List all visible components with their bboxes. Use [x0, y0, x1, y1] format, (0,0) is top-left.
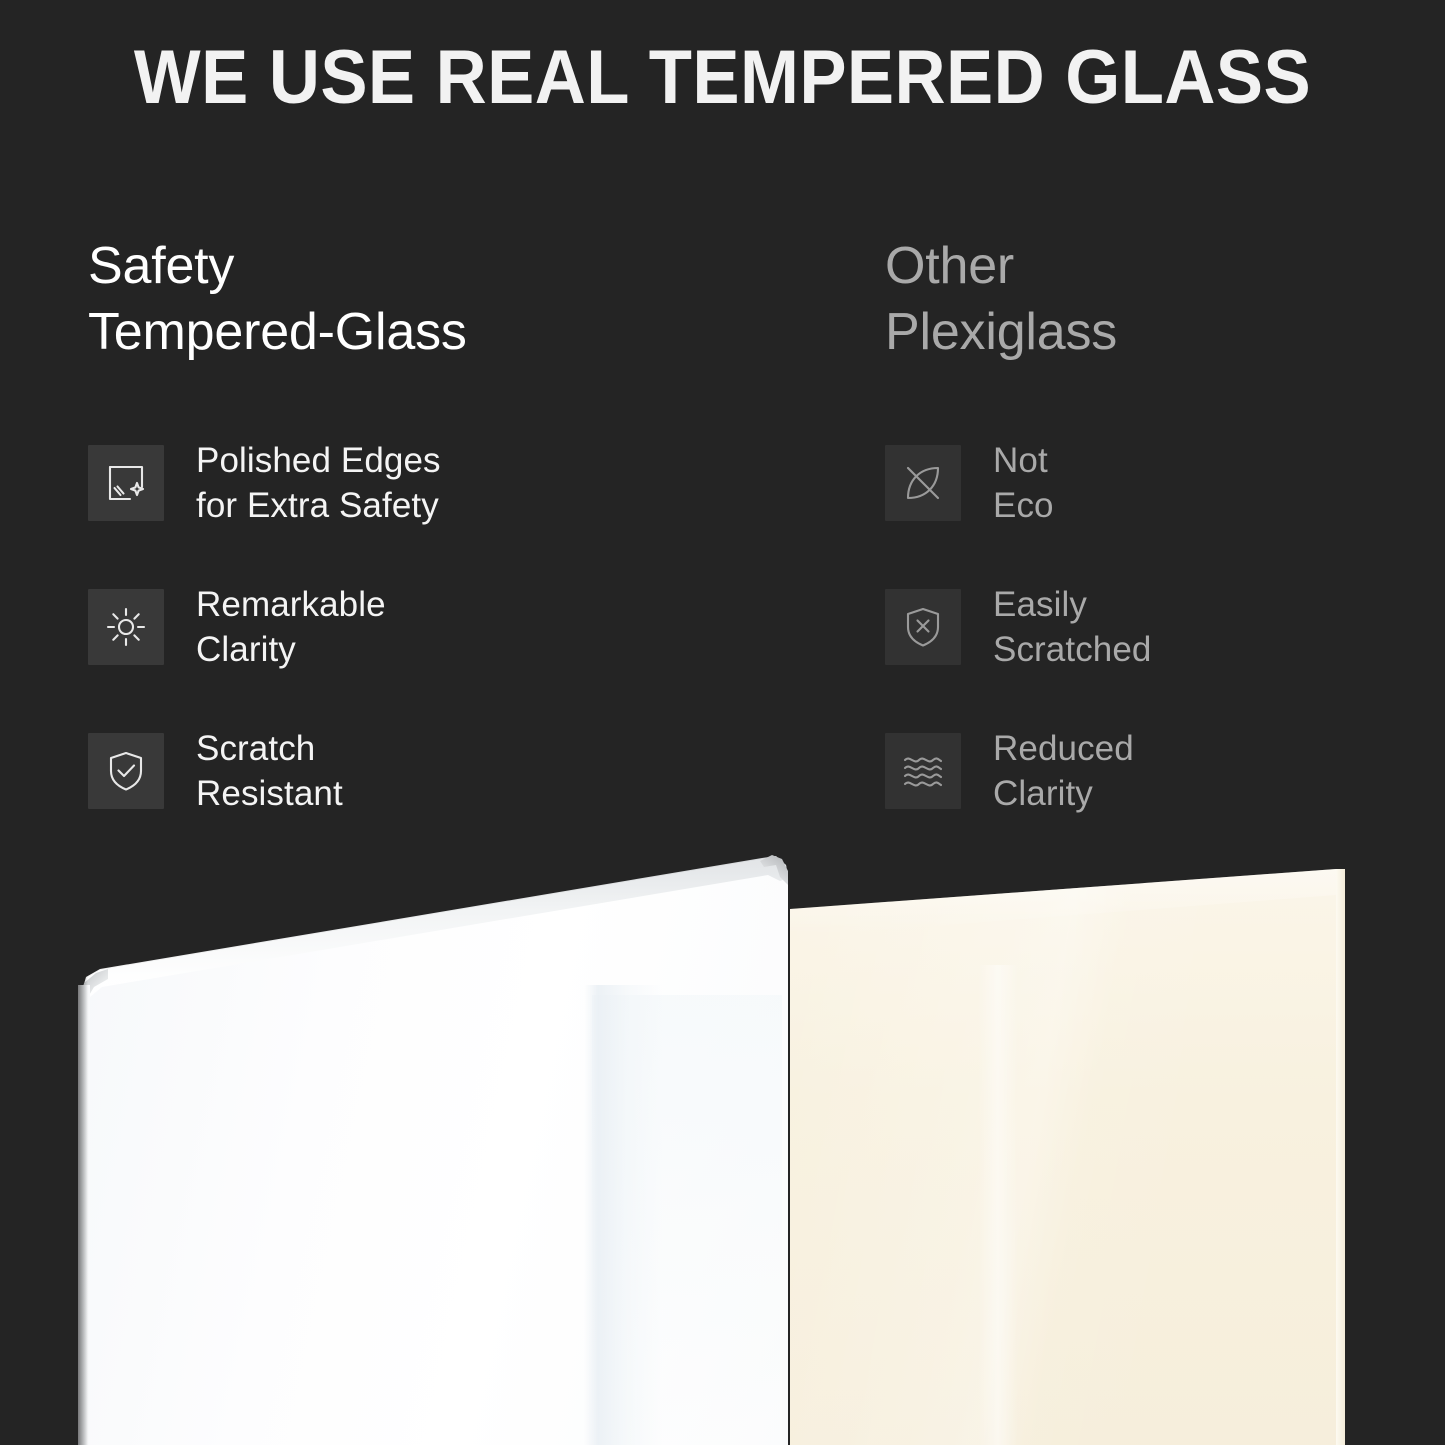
wavy-lines-distortion-icon	[885, 733, 961, 809]
feature-list-right: Not Eco Easily Scratched	[885, 439, 1152, 871]
tempered-glass-left-shadow	[72, 973, 88, 1445]
feature-label: Polished Edges for Extra Safety	[196, 438, 441, 528]
feature-easily-scratched: Easily Scratched	[885, 583, 1152, 671]
feature-polished-edges: Polished Edges for Extra Safety	[88, 439, 441, 527]
product-panels	[0, 845, 1445, 1445]
plexiglass-face	[790, 845, 1345, 1445]
feature-reduced-clarity: Reduced Clarity	[885, 727, 1152, 815]
feature-label: Reduced Clarity	[993, 726, 1134, 816]
feature-label: Not Eco	[993, 438, 1054, 528]
polished-glass-sparkle-icon	[88, 445, 164, 521]
plexiglass-reflection-band	[978, 965, 1018, 1445]
column-heading-right: Other Plexiglass	[885, 233, 1425, 365]
comparison-columns: Safety Tempered-Glass Polished Edges for…	[0, 233, 1445, 853]
feature-label: Scratch Resistant	[196, 726, 343, 816]
tempered-glass-panel-image	[72, 845, 792, 1445]
tempered-glass-reflection-band	[584, 985, 662, 1445]
feature-not-eco: Not Eco	[885, 439, 1152, 527]
feature-label: Remarkable Clarity	[196, 582, 386, 672]
sun-brightness-icon	[88, 589, 164, 665]
column-safety-tempered-glass: Safety Tempered-Glass Polished Edges for…	[88, 233, 788, 365]
shield-x-icon	[885, 589, 961, 665]
shield-check-icon	[88, 733, 164, 809]
leaf-crossed-out-icon	[885, 445, 961, 521]
feature-remarkable-clarity: Remarkable Clarity	[88, 583, 441, 671]
plexiglass-panel-image	[790, 845, 1345, 1445]
column-other-plexiglass: Other Plexiglass Not Eco	[885, 233, 1425, 365]
feature-list-left: Polished Edges for Extra Safety Remarkab…	[88, 439, 441, 871]
feature-scratch-resistant: Scratch Resistant	[88, 727, 441, 815]
feature-label: Easily Scratched	[993, 582, 1152, 672]
page-title: WE USE REAL TEMPERED GLASS	[51, 40, 1395, 116]
plexiglass-right-edge	[1336, 869, 1345, 1445]
column-heading-left: Safety Tempered-Glass	[88, 233, 788, 365]
